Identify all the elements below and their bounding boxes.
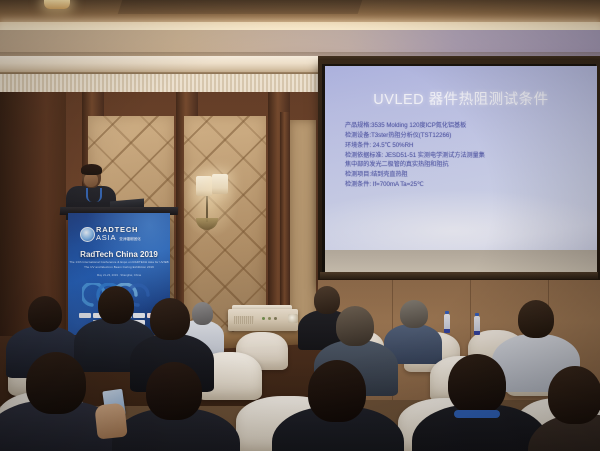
- projector-indicator-power: [262, 317, 265, 320]
- audience-head: [26, 352, 86, 414]
- audience-head: [28, 296, 62, 332]
- presenter-hair: [81, 164, 102, 175]
- presenter-face: [84, 173, 98, 187]
- water-bottle-cap: [445, 311, 449, 314]
- slide-line: 焦中部的发光二极管的真实热阻和阻抗: [345, 160, 581, 170]
- audience-head: [192, 302, 213, 325]
- slide-line: 环境条件: 24.5℃ 50%RH: [345, 141, 581, 151]
- globe-icon: [80, 227, 95, 242]
- audience-head: [400, 300, 428, 328]
- podium-org-asia: ASIA: [96, 233, 116, 242]
- audience-lanyard: [454, 410, 500, 418]
- slide-body: 产品规格:3535 Molding 120度ICP氮化铝基板 检测设备:T3st…: [345, 121, 581, 190]
- slide-line: 检测设备:T3ster热阻分析仪(TST12266): [345, 131, 581, 141]
- audience-head: [146, 362, 202, 420]
- podium-event-date: May 21-23, 2019 · Shanghai, China: [68, 273, 170, 277]
- projector-vent: [234, 316, 254, 324]
- slide-line: 检测项目:结到壳直热阻: [345, 170, 581, 180]
- podium-org-suffix: 亚洲辐射固化: [119, 237, 141, 241]
- podium-event-title: RadTech China 2019: [68, 250, 170, 259]
- conference-room-photo: UVLED 器件热阻测试条件 产品规格:3535 Molding 120度ICP…: [0, 0, 600, 451]
- projection-screen-blank-area: [325, 250, 597, 274]
- audience-head: [150, 298, 190, 340]
- projector-indicator-lamp: [268, 317, 271, 320]
- audience-head: [336, 306, 374, 346]
- podium-org-line-2: ASIA 亚洲辐射固化: [96, 233, 141, 243]
- projector-lens: [288, 314, 298, 323]
- slide-line: 检测依据标准: JESD51-51 实测电学测试方法测量集: [345, 151, 581, 161]
- podium-event-subtitle-1: The 13th International Conference & Expo…: [68, 260, 170, 264]
- sponsor-logo: [133, 313, 145, 318]
- projector-indicator-temp: [274, 317, 277, 320]
- beaded-wall-band-left: [0, 74, 318, 94]
- raised-hand: [94, 403, 127, 440]
- slide-title: UVLED 器件热阻测试条件: [325, 88, 597, 109]
- ceiling-recess-secondary: [118, 0, 363, 14]
- sponsor-logo: [79, 313, 91, 318]
- podium-event-subtitle-2: The UV and Electron Beam Curing Exhibiti…: [68, 265, 170, 269]
- audience-head: [98, 286, 134, 324]
- water-bottle: [474, 316, 480, 335]
- water-bottle-cap: [475, 313, 479, 316]
- projection-screen: UVLED 器件热阻测试条件 产品规格:3535 Molding 120度ICP…: [325, 66, 597, 274]
- water-bottle: [444, 314, 450, 333]
- audience-head: [448, 354, 506, 414]
- ceiling-lamp: [44, 0, 70, 9]
- slide-line: 检测条件: If=700mA Ta=25℃: [345, 180, 581, 190]
- audience-head: [548, 366, 600, 424]
- audience-head: [314, 286, 340, 314]
- sconce-shade-right: [212, 174, 228, 194]
- sconce-shade-left: [196, 176, 212, 196]
- slide-line: 产品规格:3535 Molding 120度ICP氮化铝基板: [345, 121, 581, 131]
- audience-head: [518, 300, 554, 338]
- screen-bottom-bar: [320, 272, 598, 279]
- audience-head: [308, 360, 366, 422]
- presenter-lanyard: [86, 188, 102, 202]
